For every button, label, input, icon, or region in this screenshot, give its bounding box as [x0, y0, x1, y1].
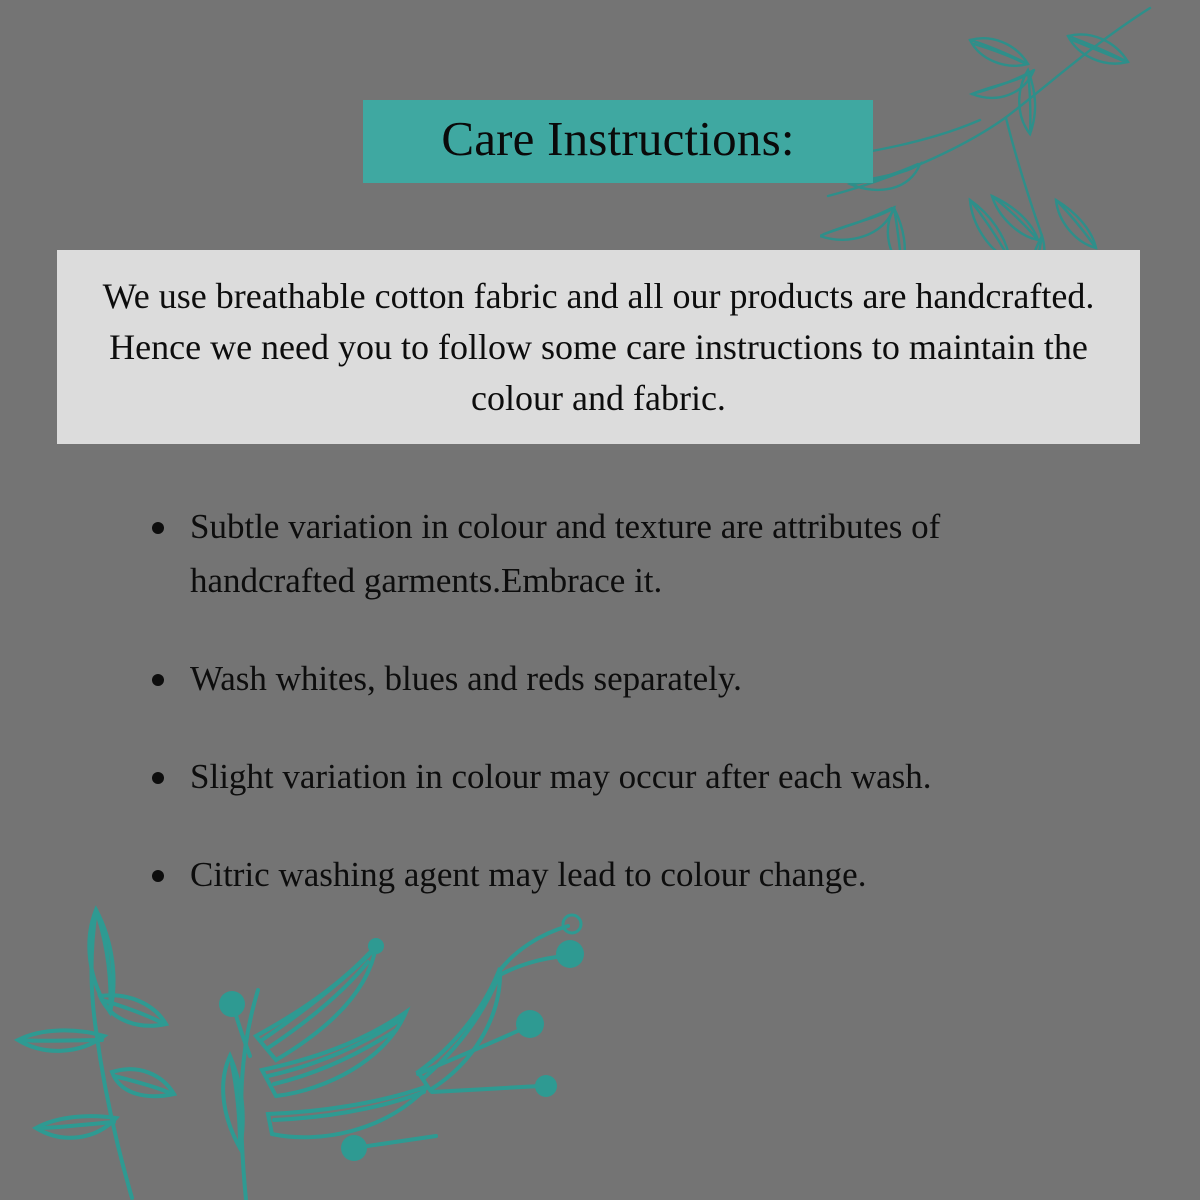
bullet-icon [152, 522, 164, 534]
page-title: Care Instructions: [441, 114, 794, 169]
decor-dot [535, 1075, 557, 1097]
bullet-icon [152, 870, 164, 882]
botanical-spray-bottom-left-icon [0, 900, 640, 1200]
list-item: Citric washing agent may lead to colour … [140, 848, 1130, 902]
intro-panel: We use breathable cotton fabric and all … [57, 250, 1140, 444]
list-item: Wash whites, blues and reds separately. [140, 652, 1130, 706]
decor-dot [341, 1135, 367, 1161]
title-banner: Care Instructions: [363, 100, 873, 183]
decor-dot [516, 1010, 544, 1038]
list-item-label: Wash whites, blues and reds separately. [190, 652, 1130, 706]
intro-paragraph: We use breathable cotton fabric and all … [79, 271, 1119, 424]
decor-ring [563, 915, 581, 933]
list-item: Subtle variation in colour and texture a… [140, 500, 1130, 608]
care-instructions-list: Subtle variation in colour and texture a… [140, 500, 1130, 902]
list-item-label: Slight variation in colour may occur aft… [190, 750, 1100, 804]
decor-dot [368, 938, 384, 954]
decor-dot [219, 991, 245, 1017]
decor-dot [556, 940, 584, 968]
bullet-icon [152, 772, 164, 784]
list-item-label: Citric washing agent may lead to colour … [190, 848, 980, 902]
list-item: Slight variation in colour may occur aft… [140, 750, 1130, 804]
care-instructions-poster: Care Instructions: We use breathable cot… [0, 0, 1200, 1200]
list-item-label: Subtle variation in colour and texture a… [190, 500, 1070, 608]
bullet-icon [152, 674, 164, 686]
